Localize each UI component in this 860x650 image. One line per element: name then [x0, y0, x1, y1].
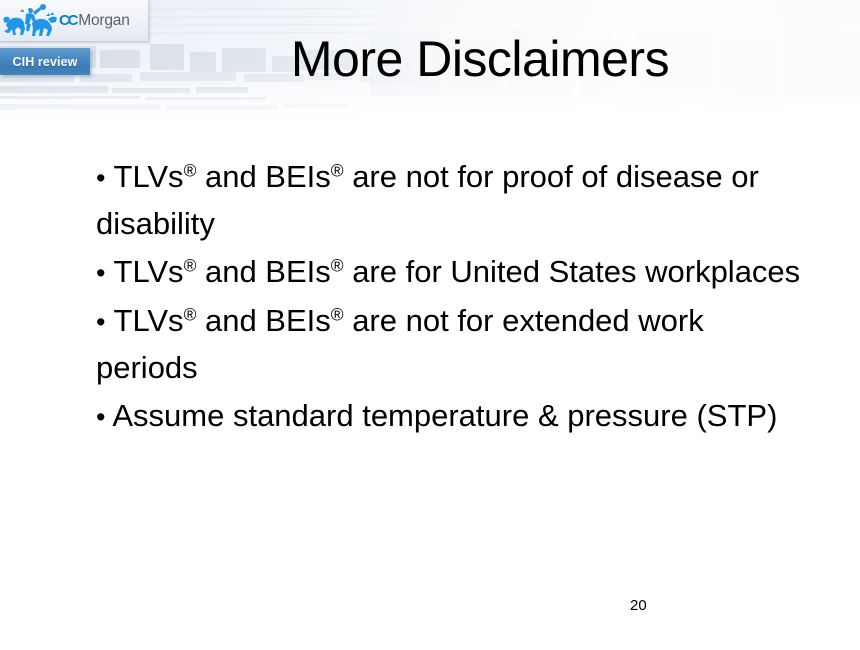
registered-trademark-symbol: ®	[184, 160, 197, 180]
slide-title: More Disclaimers	[150, 34, 810, 84]
bullet-text: TLVs	[105, 254, 183, 289]
bullet-text: Assume standard temperature & pressure (…	[105, 398, 777, 433]
cih-review-tab-label: CIH review	[13, 55, 78, 69]
bullet-list: • TLVs® and BEIs® are not for proof of d…	[96, 154, 806, 442]
bullet-text: and BEIs	[196, 254, 330, 289]
registered-trademark-symbol: ®	[331, 160, 344, 180]
registered-trademark-symbol: ®	[184, 255, 197, 275]
brand-name-text: Morgan	[78, 13, 129, 29]
morgan-heraldic-crest-icon	[2, 3, 58, 39]
bullet-text: are for United States workplaces	[344, 254, 801, 289]
bullet-item: • Assume standard temperature & pressure…	[96, 393, 806, 440]
bullet-text: TLVs	[105, 303, 183, 338]
page-number: 20	[630, 597, 647, 614]
morgan-logo-plate: CC Morgan	[0, 0, 149, 42]
bullet-item: • TLVs® and BEIs® are for United States …	[96, 249, 806, 296]
bullet-text: and BEIs	[196, 303, 330, 338]
cc-mark-icon: CC	[59, 13, 76, 28]
cih-review-tab[interactable]: CIH review	[0, 48, 90, 75]
registered-trademark-symbol: ®	[184, 304, 197, 324]
bullet-text: and BEIs	[196, 159, 330, 194]
registered-trademark-symbol: ®	[331, 304, 344, 324]
bullet-item: • TLVs® and BEIs® are not for proof of d…	[96, 154, 806, 247]
registered-trademark-symbol: ®	[331, 255, 344, 275]
bullet-item: • TLVs® and BEIs® are not for extended w…	[96, 298, 806, 391]
bullet-text: TLVs	[105, 159, 183, 194]
presentation-slide: CC Morgan CIH review More Disclaimers • …	[0, 0, 860, 650]
morgan-wordmark: CC Morgan	[59, 13, 130, 29]
